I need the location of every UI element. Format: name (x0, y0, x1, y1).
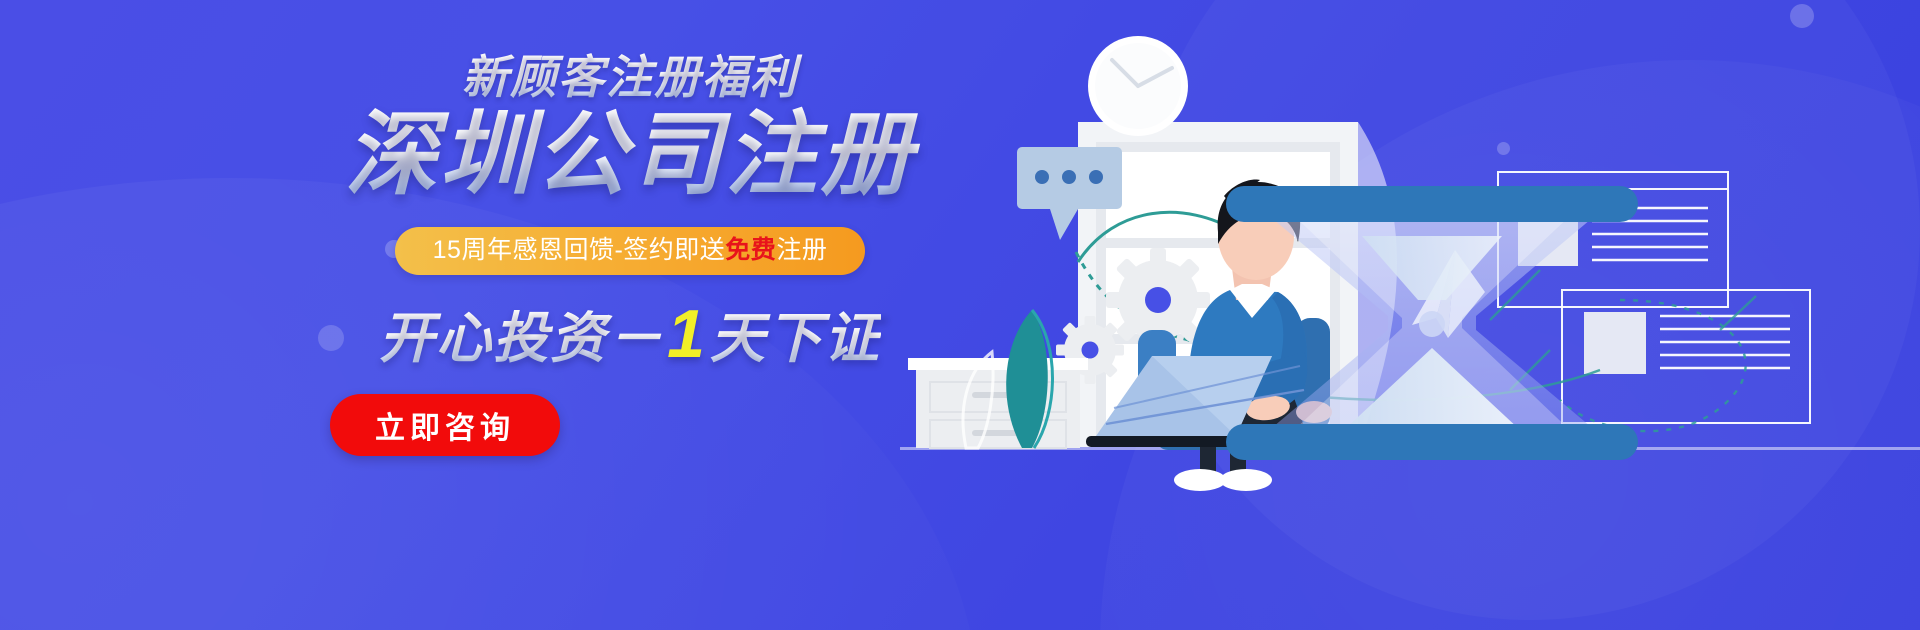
tagline-part1: 开心投资－ (379, 307, 664, 369)
promo-pill-suffix: 注册 (776, 238, 827, 263)
hero-illustration (900, 0, 1920, 630)
filing-cabinet (908, 358, 1088, 448)
tagline-number: 1 (664, 296, 710, 372)
headline-sub: 新顾客注册福利 (330, 52, 930, 104)
promo-pill-prefix: 15周年感恩回馈-签约即送 (433, 238, 726, 263)
tagline-part2: 天下证 (710, 307, 881, 369)
promo-pill-highlight: 免费 (725, 238, 776, 263)
consult-now-button[interactable]: 立即咨询 (330, 394, 560, 456)
tagline: 开心投资－1天下证 (330, 297, 930, 372)
headline-main: 深圳公司注册 (330, 106, 930, 205)
clock-icon (1088, 36, 1188, 136)
promo-banner: 新顾客注册福利 深圳公司注册 15周年感恩回馈-签约即送免费注册 开心投资－1天… (0, 0, 1920, 630)
promo-pill: 15周年感恩回馈-签约即送免费注册 (395, 227, 865, 275)
banner-copy: 新顾客注册福利 深圳公司注册 15周年感恩回馈-签约即送免费注册 开心投资－1天… (330, 52, 930, 456)
